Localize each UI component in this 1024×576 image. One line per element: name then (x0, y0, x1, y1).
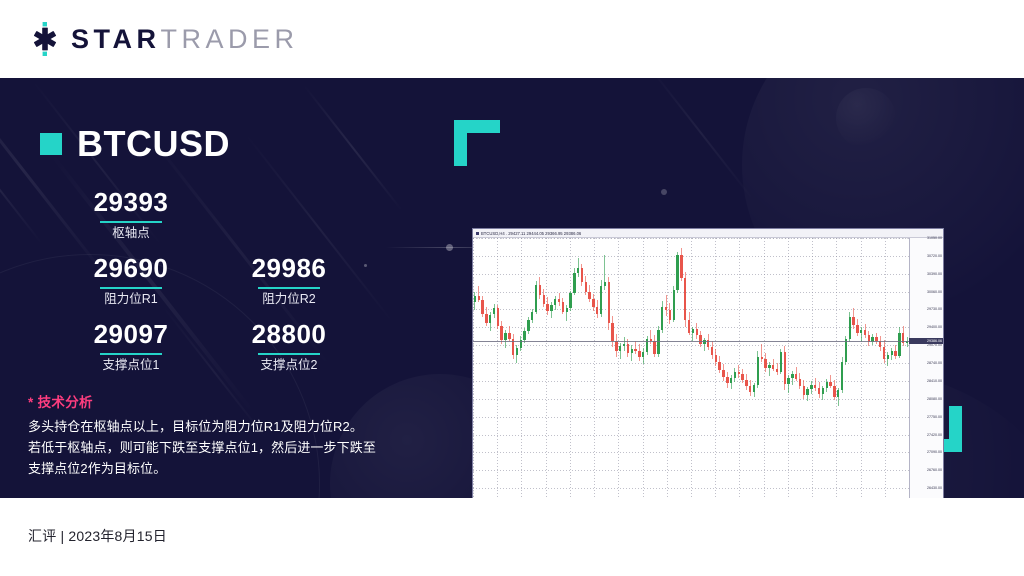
chart-price-axis[interactable]: 31050.0030720.0030390.0030060.0029730.00… (909, 238, 943, 498)
price-tick-label: 28080.00 (927, 397, 942, 401)
candlestick (826, 238, 828, 498)
price-tick-label: 30060.00 (927, 290, 942, 294)
candlestick (523, 238, 525, 498)
price-tick-label: 31050.00 (927, 236, 942, 240)
candlestick (784, 238, 786, 498)
candlestick (623, 238, 625, 498)
candlestick (500, 238, 502, 498)
candlestick (829, 238, 831, 498)
candlestick (764, 238, 766, 498)
candlestick (653, 238, 655, 498)
price-tick-label: 29400.00 (927, 325, 942, 329)
candlestick (703, 238, 705, 498)
candlestick (588, 238, 590, 498)
candlestick (665, 238, 667, 498)
page-header: STARTRADER (0, 0, 1024, 78)
candlestick (554, 238, 556, 498)
candlestick (726, 238, 728, 498)
candlestick (780, 238, 782, 498)
candlestick (585, 238, 587, 498)
candlestick (868, 238, 870, 498)
candlestick (699, 238, 701, 498)
level-resistance-2: 29986 阻力位R2 (214, 254, 364, 307)
level-resistance-1: 29690 阻力位R1 (56, 254, 206, 307)
candlestick (680, 238, 682, 498)
candlestick (550, 238, 552, 498)
candlestick (902, 238, 904, 498)
candlestick (715, 238, 717, 498)
candlestick (799, 238, 801, 498)
candlestick (734, 238, 736, 498)
candlestick (657, 238, 659, 498)
pivot-row: 29393 枢轴点 (40, 188, 460, 241)
chart-title-bar: BTCUSD,H4 . 29427.11 29444.05 29366.95 2… (473, 229, 943, 238)
level-value: 29690 (56, 254, 206, 284)
candlestick (791, 238, 793, 498)
pivot-levels: 29393 枢轴点 29690 阻力位R1 29986 阻力位R2 (40, 188, 460, 373)
level-pivot: 29393 枢轴点 (56, 188, 206, 241)
candlestick (749, 238, 751, 498)
candlestick (795, 238, 797, 498)
candlestick (894, 238, 896, 498)
candlestick (875, 238, 877, 498)
candlestick (569, 238, 571, 498)
level-value: 28800 (214, 320, 364, 350)
corner-bracket-top-left (454, 120, 500, 166)
candlestick (512, 238, 514, 498)
brand-logo: STARTRADER (28, 22, 299, 56)
candlestick (615, 238, 617, 498)
candlestick (841, 238, 843, 498)
teal-square-icon (40, 133, 62, 155)
candlestick (753, 238, 755, 498)
chart-window-icon (476, 232, 479, 235)
candlestick (772, 238, 774, 498)
candlestick (837, 238, 839, 498)
candlestick (497, 238, 499, 498)
candlestick (527, 238, 529, 498)
candlestick (600, 238, 602, 498)
candlestick (604, 238, 606, 498)
level-value: 29097 (56, 320, 206, 350)
level-underline (100, 287, 162, 289)
level-support-2: 28800 支撑点位2 (214, 320, 364, 373)
candlestick (608, 238, 610, 498)
candlestick (806, 238, 808, 498)
level-underline (258, 353, 320, 355)
candlestick (776, 238, 778, 498)
candlestick (504, 238, 506, 498)
level-underline (100, 221, 162, 223)
candlestick (745, 238, 747, 498)
candlestick (676, 238, 678, 498)
price-tick-label: 28740.00 (927, 361, 942, 365)
candlestick (822, 238, 824, 498)
level-underline (100, 353, 162, 355)
candlestick (642, 238, 644, 498)
brand-secondary: TRADER (161, 24, 299, 54)
candlestick (619, 238, 621, 498)
price-tick-label: 27090.00 (927, 450, 942, 454)
analysis-line: 多头持仓在枢轴点以上，目标位为阻力位R1及阻力位R2。 (28, 416, 438, 437)
candlestick (864, 238, 866, 498)
chart-title-text: BTCUSD,H4 . 29427.11 29444.05 29366.95 2… (481, 231, 581, 236)
candlestick (768, 238, 770, 498)
analysis-body: 多头持仓在枢轴点以上，目标位为阻力位R1及阻力位R2。 若低于枢轴点，则可能下跌… (28, 416, 438, 479)
decor-dot (661, 189, 667, 195)
candlestick (543, 238, 545, 498)
candlestick (883, 238, 885, 498)
last-price-line (473, 341, 909, 342)
page-title: BTCUSD (77, 126, 230, 162)
candlestick (711, 238, 713, 498)
candlestick (631, 238, 633, 498)
candlestick (627, 238, 629, 498)
candlestick (684, 238, 686, 498)
candlestick (692, 238, 694, 498)
candlestick (592, 238, 594, 498)
candlestick (738, 238, 740, 498)
candlestick (833, 238, 835, 498)
page-footer: 汇评 | 2023年8月15日 (0, 498, 1024, 576)
candlestick (581, 238, 583, 498)
candlestick (562, 238, 564, 498)
candlestick (856, 238, 858, 498)
chart-window[interactable]: BTCUSD,H4 . 29427.11 29444.05 29366.95 2… (472, 228, 944, 498)
level-label: 支撑点位2 (214, 358, 364, 373)
price-tick-label: 30390.00 (927, 272, 942, 276)
level-value: 29393 (56, 188, 206, 218)
candlestick (478, 238, 480, 498)
candlestick (508, 238, 510, 498)
star-asterisk-icon (28, 22, 62, 56)
current-price-badge: 29386.06 (909, 338, 943, 344)
analysis-heading: * 技术分析 (28, 391, 438, 411)
candlestick (787, 238, 789, 498)
footer-caption: 汇评 | 2023年8月15日 (28, 526, 167, 546)
price-tick-label: 27420.00 (927, 433, 942, 437)
analysis-line: 若低于枢轴点，则可能下跌至支撑点位1，然后进一步下跌至 (28, 437, 438, 458)
candlestick (810, 238, 812, 498)
level-underline (258, 287, 320, 289)
instrument-title-row: BTCUSD (40, 126, 460, 162)
candlestick (573, 238, 575, 498)
candlestick (669, 238, 671, 498)
candlestick (891, 238, 893, 498)
candlestick (646, 238, 648, 498)
candlestick (722, 238, 724, 498)
decor-orb (836, 88, 896, 148)
level-support-1: 29097 支撑点位1 (56, 320, 206, 373)
brand-wordmark: STARTRADER (71, 26, 299, 53)
analysis-line: 支撑点位2作为目标位。 (28, 458, 438, 479)
decor-streak (0, 78, 43, 244)
candlestick (757, 238, 759, 498)
price-tick-label: 26760.00 (927, 468, 942, 472)
candlestick (481, 238, 483, 498)
candlestick (539, 238, 541, 498)
candlestick (566, 238, 568, 498)
level-label: 枢轴点 (56, 226, 206, 241)
price-tick-label: 30720.00 (927, 254, 942, 258)
candlestick (596, 238, 598, 498)
level-label: 阻力位R2 (214, 292, 364, 307)
candlestick (803, 238, 805, 498)
level-label: 阻力位R1 (56, 292, 206, 307)
candlestick (741, 238, 743, 498)
technical-analysis: * 技术分析 多头持仓在枢轴点以上，目标位为阻力位R1及阻力位R2。 若低于枢轴… (28, 391, 438, 479)
candlestick (485, 238, 487, 498)
candlestick (879, 238, 881, 498)
candlestick (814, 238, 816, 498)
brand-primary: STAR (71, 24, 161, 54)
candlestick (871, 238, 873, 498)
candlestick (898, 238, 900, 498)
price-tick-label: 28410.00 (927, 379, 942, 383)
candlestick (718, 238, 720, 498)
candlestick (688, 238, 690, 498)
candlestick (650, 238, 652, 498)
candlestick (696, 238, 698, 498)
price-tick-label: 29730.00 (927, 307, 942, 311)
level-label: 支撑点位1 (56, 358, 206, 373)
candlestick (520, 238, 522, 498)
candlestick (673, 238, 675, 498)
candlestick (558, 238, 560, 498)
candlestick (634, 238, 636, 498)
candlestick (707, 238, 709, 498)
candlestick (611, 238, 613, 498)
candlestick (493, 238, 495, 498)
candlestick (730, 238, 732, 498)
price-tick-label: 27750.00 (927, 415, 942, 419)
candlestick (818, 238, 820, 498)
level-value: 29986 (214, 254, 364, 284)
candlestick (535, 238, 537, 498)
support-row: 29097 支撑点位1 28800 支撑点位2 (40, 320, 460, 373)
candlestick (761, 238, 763, 498)
candlestick (845, 238, 847, 498)
candlestick (887, 238, 889, 498)
main-stage: BTCUSD 29393 枢轴点 29690 阻力位R1 29986 (0, 78, 1024, 498)
candlestick (531, 238, 533, 498)
candlestick (661, 238, 663, 498)
resistance-row: 29690 阻力位R1 29986 阻力位R2 (40, 254, 460, 307)
candlestick (638, 238, 640, 498)
decor-streak (648, 78, 754, 201)
candlestick (852, 238, 854, 498)
candlestick (474, 238, 476, 498)
candlestick (906, 238, 908, 498)
candlestick (577, 238, 579, 498)
candlestick (546, 238, 548, 498)
candlestick (860, 238, 862, 498)
price-tick-label: 26430.00 (927, 486, 942, 490)
instrument-panel: BTCUSD 29393 枢轴点 29690 阻力位R1 29986 (40, 78, 460, 373)
candlestick (489, 238, 491, 498)
chart-plot-area[interactable] (473, 238, 909, 498)
candlestick (849, 238, 851, 498)
candlestick (516, 238, 518, 498)
